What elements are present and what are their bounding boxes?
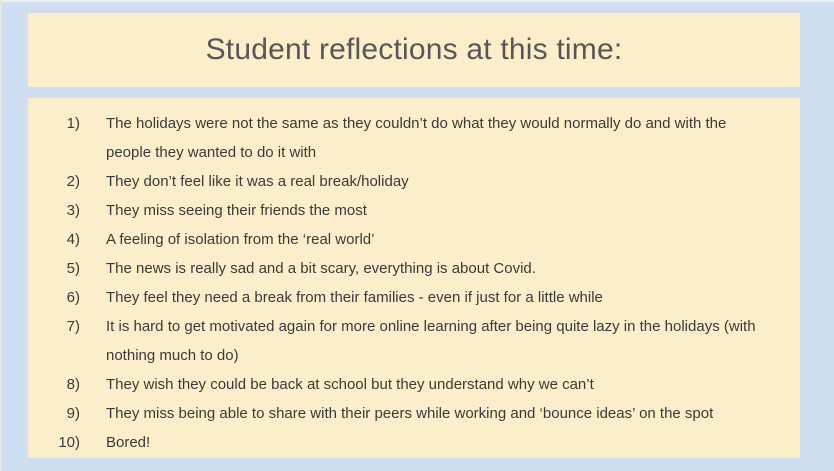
list-item-text: Bored! xyxy=(80,428,800,457)
slide-canvas: Student reflections at this time: 1) The… xyxy=(0,0,834,471)
list-item: 1) The holidays were not the same as the… xyxy=(28,109,800,167)
list-item-text: They wish they could be back at school b… xyxy=(80,370,800,399)
list-item-marker: 9) xyxy=(28,399,80,428)
list-item-marker: 7) xyxy=(28,312,80,341)
list-item-text: A feeling of isolation from the ‘real wo… xyxy=(80,225,800,254)
list-item-marker: 2) xyxy=(28,167,80,196)
list-item-marker: 3) xyxy=(28,196,80,225)
list-item-text: They miss being able to share with their… xyxy=(80,399,800,428)
list-item: 7) It is hard to get motivated again for… xyxy=(28,312,800,370)
list-item-text: They don’t feel like it was a real break… xyxy=(80,167,800,196)
list-item: 6) They feel they need a break from thei… xyxy=(28,283,800,312)
reflections-list: 1) The holidays were not the same as the… xyxy=(28,109,800,457)
list-item: 9) They miss being able to share with th… xyxy=(28,399,800,428)
page-title: Student reflections at this time: xyxy=(206,32,623,68)
list-item-text: The holidays were not the same as they c… xyxy=(80,109,800,167)
list-item-text: It is hard to get motivated again for mo… xyxy=(80,312,800,370)
list-item: 3) They miss seeing their friends the mo… xyxy=(28,196,800,225)
list-item: 4) A feeling of isolation from the ‘real… xyxy=(28,225,800,254)
list-item-marker: 10) xyxy=(28,428,80,457)
list-item-marker: 5) xyxy=(28,254,80,283)
list-item-marker: 1) xyxy=(28,109,80,138)
list-item-marker: 8) xyxy=(28,370,80,399)
list-item: 8) They wish they could be back at schoo… xyxy=(28,370,800,399)
list-item: 2) They don’t feel like it was a real br… xyxy=(28,167,800,196)
list-item-text: They feel they need a break from their f… xyxy=(80,283,800,312)
list-item: 5) The news is really sad and a bit scar… xyxy=(28,254,800,283)
list-item-text: The news is really sad and a bit scary, … xyxy=(80,254,800,283)
list-item: 10) Bored! xyxy=(28,428,800,457)
reflections-panel: 1) The holidays were not the same as the… xyxy=(28,98,800,458)
title-panel: Student reflections at this time: xyxy=(28,13,800,87)
list-item-marker: 4) xyxy=(28,225,80,254)
list-item-text: They miss seeing their friends the most xyxy=(80,196,800,225)
list-item-marker: 6) xyxy=(28,283,80,312)
